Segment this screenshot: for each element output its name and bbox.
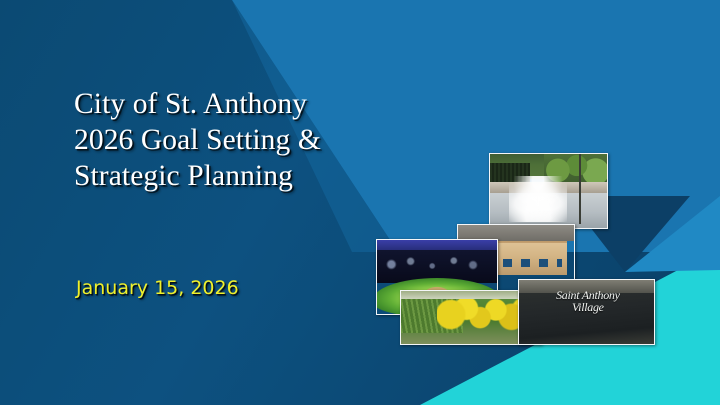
slide-title: City of St. Anthony 2026 Goal Setting & … — [74, 86, 474, 194]
title-line-3: Strategic Planning — [74, 158, 474, 194]
sign-text-line-2: Village — [530, 301, 646, 313]
sign-text: Saint Anthony Village — [530, 289, 646, 313]
presentation-slide: City of St. Anthony 2026 Goal Setting & … — [0, 0, 720, 405]
title-line-2: 2026 Goal Setting & — [74, 122, 474, 158]
slide-date: January 15, 2026 — [76, 277, 239, 299]
photo-fountain[interactable] — [489, 153, 608, 229]
photo-village-sign[interactable]: Saint Anthony Village — [518, 279, 655, 345]
fountain-spray — [509, 176, 568, 222]
title-line-1: City of St. Anthony — [74, 86, 474, 122]
fountain-lamppost — [579, 154, 582, 224]
